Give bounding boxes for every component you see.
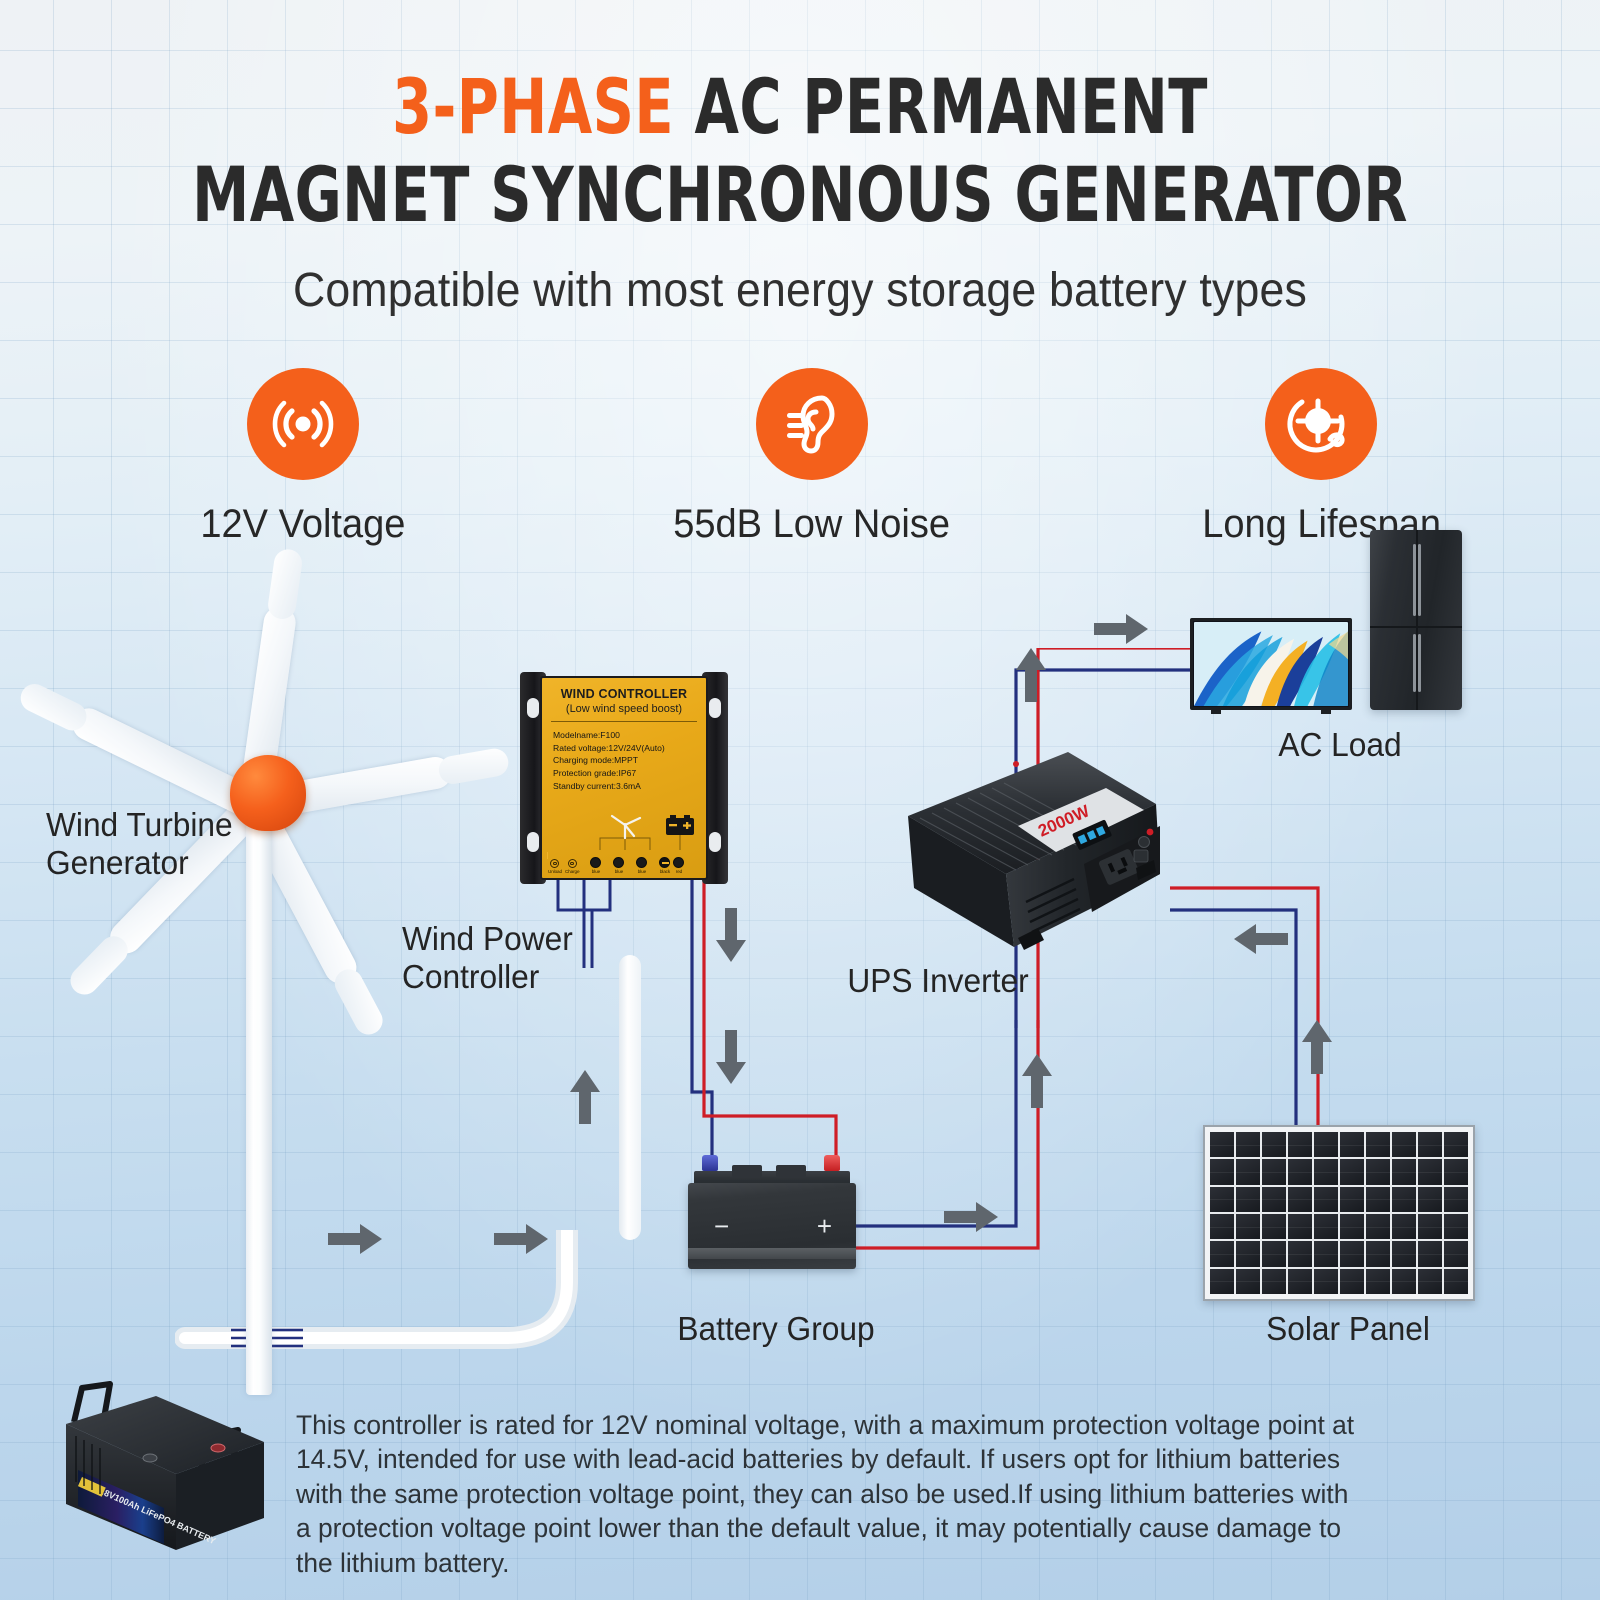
fridge-handle <box>1418 634 1421 692</box>
flow-arrow-up <box>1296 1018 1338 1076</box>
turbine-mast <box>246 795 272 1395</box>
battery-cell-cap <box>732 1165 762 1177</box>
label-battery-group: Battery Group <box>677 1310 874 1348</box>
controller-port: blue <box>590 857 601 874</box>
flow-arrow-up <box>1010 646 1052 704</box>
controller-ports: Unload Charge blue blue blue black red <box>542 850 706 874</box>
lithium-battery: 12.8V100Ah LiFePO4 BATTERY <box>52 1378 282 1558</box>
feature-item-voltage: 12V Voltage <box>48 368 557 547</box>
feature-item-lifespan: Long Lifespan <box>1067 368 1576 547</box>
ups-inverter: 2000W <box>898 742 1198 957</box>
controller-port: Unload <box>548 859 562 874</box>
label-solar-panel: Solar Panel <box>1266 1310 1430 1348</box>
solar-to-inverter-wires <box>1170 866 1370 1136</box>
flow-arrow-right <box>1092 608 1150 650</box>
feature-label: 55dB Low Noise <box>674 502 951 547</box>
feature-row: 12V Voltage 55dB Low Noise <box>0 368 1600 547</box>
controller-spec: Standby current:3.6mA <box>553 780 706 793</box>
battery-group: − + <box>686 1163 858 1291</box>
fridge-handle <box>1413 544 1416 616</box>
wind-power-controller: WIND CONTROLLER (Low wind speed boost) M… <box>520 672 728 884</box>
turbine-nose-cone <box>230 755 306 831</box>
tv-screen <box>1194 622 1348 706</box>
controller-spec: Modelname:F100 <box>553 729 706 742</box>
battery-negative-symbol: − <box>714 1213 729 1239</box>
title-rest: AC PERMANENT <box>674 62 1208 151</box>
page-title-line1: 3-PHASE AC PERMANENT <box>128 0 1472 146</box>
header: 3-PHASE AC PERMANENT MAGNET SYNCHRONOUS … <box>0 0 1600 318</box>
controller-port: blue <box>613 857 624 874</box>
controller-port: blue <box>636 857 647 874</box>
label-wind-turbine: Wind Turbine Generator <box>46 806 233 883</box>
battery-base-stripe <box>688 1248 856 1259</box>
flow-arrow-right <box>492 1218 550 1260</box>
tv-stand-right <box>1321 707 1331 714</box>
tv-stand-left <box>1211 707 1221 714</box>
controller-spec: Protection grade:IP67 <box>553 767 706 780</box>
flow-arrow-right <box>942 1196 1000 1238</box>
label-wind-controller: Wind Power Controller <box>402 920 573 997</box>
note-line: 14.5V, intended for use with lead-acid b… <box>296 1442 1522 1476</box>
flow-arrow-down <box>710 906 752 964</box>
note-line: This controller is rated for 12V nominal… <box>296 1408 1522 1442</box>
controller-terminal-diagram <box>542 812 706 852</box>
note-line: the lithium battery. <box>296 1546 1522 1580</box>
television <box>1190 618 1352 710</box>
controller-spec: Rated voltage:12V/24V(Auto) <box>553 742 706 755</box>
ear-low-noise-icon <box>756 368 868 480</box>
fridge-handle <box>1418 544 1421 616</box>
title-highlight: 3-PHASE <box>392 62 674 151</box>
feature-item-noise: 55dB Low Noise <box>557 368 1066 547</box>
solar-panel <box>1203 1125 1475 1301</box>
controller-subtitle: (Low wind speed boost) <box>542 703 706 715</box>
lifespan-rotation-icon <box>1265 368 1377 480</box>
flow-arrow-down <box>710 1028 752 1086</box>
flow-arrow-up <box>1016 1052 1058 1110</box>
controller-spec: Charging mode:MPPT <box>553 754 706 767</box>
battery-positive-terminal <box>824 1155 840 1171</box>
footer-note: This controller is rated for 12V nominal… <box>296 1408 1528 1580</box>
controller-port: Charge <box>565 859 579 874</box>
controller-title: WIND CONTROLLER <box>542 687 706 701</box>
turbine-cable-riser <box>619 955 641 1240</box>
note-line: a protection voltage point lower than th… <box>296 1511 1522 1545</box>
note-line: with the same protection voltage point, … <box>296 1477 1522 1511</box>
flow-arrow-up <box>564 1068 606 1126</box>
battery-to-inverter-wires <box>852 1020 1152 1250</box>
refrigerator <box>1370 530 1462 710</box>
page-title-line2: MAGNET SYNCHRONOUS GENERATOR <box>128 146 1472 234</box>
controller-faceplate: WIND CONTROLLER (Low wind speed boost) M… <box>540 676 708 880</box>
label-ac-load: AC Load <box>1278 726 1401 764</box>
flow-arrow-left <box>1232 918 1290 960</box>
battery-cell-cap <box>776 1165 806 1177</box>
label-ups-inverter: UPS Inverter <box>847 962 1028 1000</box>
signal-waves-icon <box>247 368 359 480</box>
controller-port: red <box>673 857 684 874</box>
feature-label: 12V Voltage <box>200 502 405 547</box>
battery-positive-symbol: + <box>817 1213 832 1239</box>
fridge-handle <box>1413 634 1416 692</box>
page-subtitle: Compatible with most energy storage batt… <box>56 263 1544 318</box>
controller-port: black <box>659 857 670 874</box>
solar-cell-grid <box>1210 1132 1468 1294</box>
battery-negative-terminal <box>702 1155 718 1171</box>
